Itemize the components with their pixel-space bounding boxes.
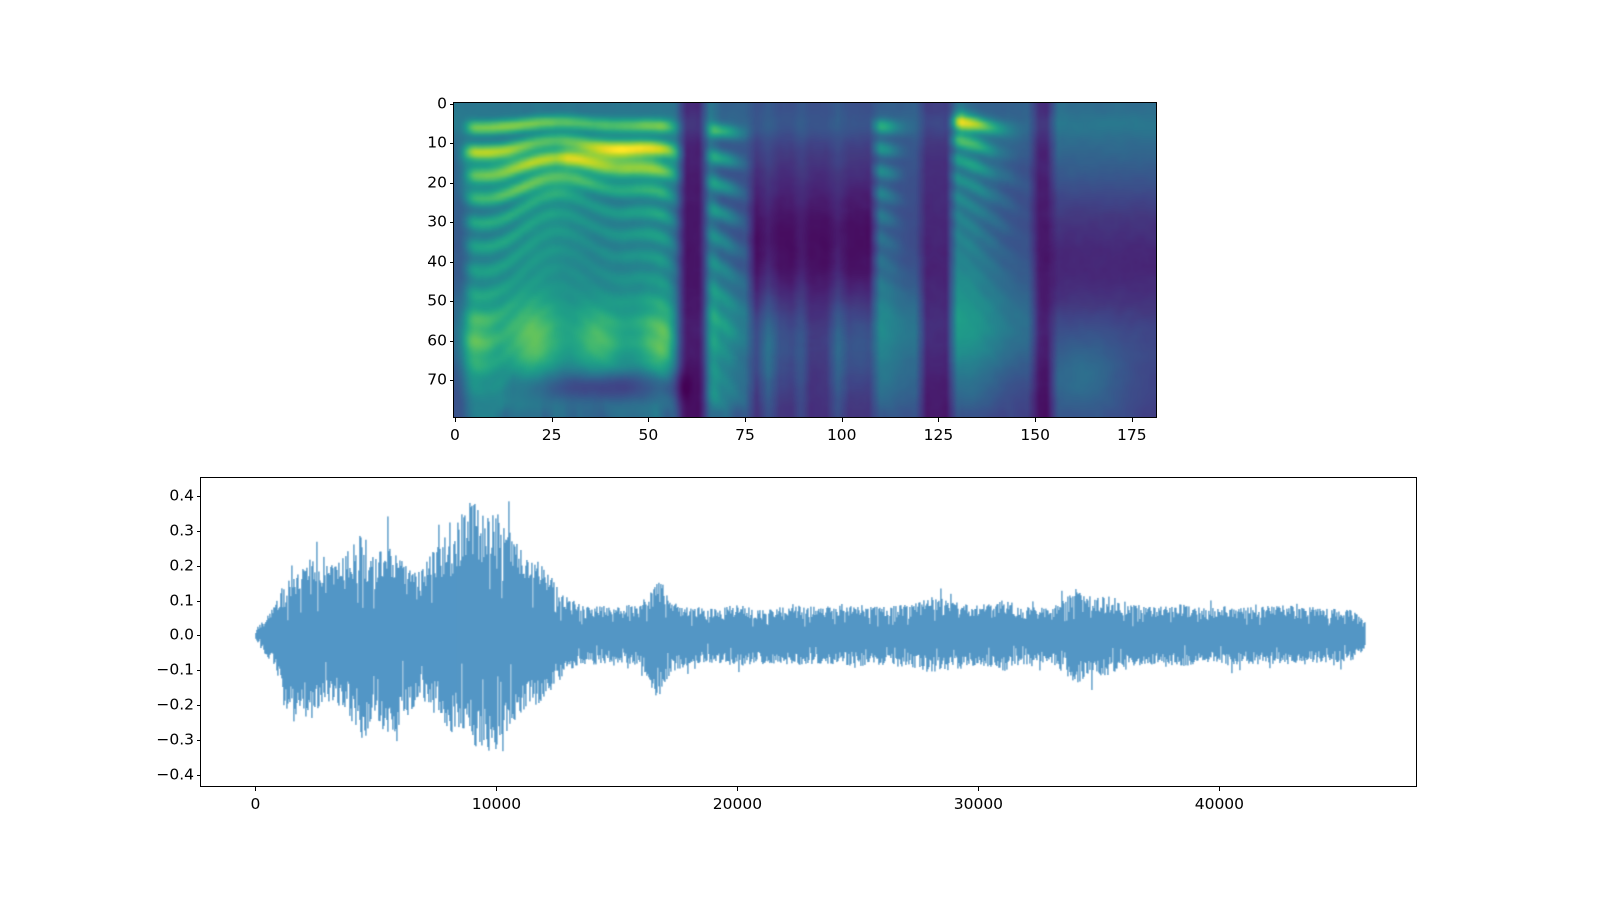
axis-tick [197,496,201,497]
axis-tick-label: 20 [427,175,447,191]
axis-tick-label: 125 [924,428,954,444]
axis-tick [552,418,553,422]
axis-tick-label: 40000 [1195,797,1244,813]
axis-tick [450,104,454,105]
axis-tick [450,301,454,302]
axis-tick [1035,418,1036,422]
axis-tick [455,418,456,422]
mel-spectrogram-panel: 010203040506070 0255075100125150175 [453,102,1157,418]
axis-tick [197,705,201,706]
axis-tick [197,775,201,776]
axis-tick [450,262,454,263]
axis-tick-label: 20000 [713,797,762,813]
axis-tick-label: 0 [250,797,260,813]
axis-tick-label: 0 [437,96,447,112]
axis-tick [842,418,843,422]
waveform-panel: −0.4−0.3−0.2−0.10.00.10.20.30.4 01000020… [200,477,1417,787]
axis-tick-label: 0.3 [169,523,194,539]
axis-tick [197,531,201,532]
axis-tick-label: 50 [638,428,658,444]
axis-tick [197,601,201,602]
axis-tick-label: 25 [542,428,562,444]
axis-tick [255,787,256,791]
axis-tick [938,418,939,422]
axis-tick [197,566,201,567]
axis-tick [450,183,454,184]
axis-tick-label: 40 [427,254,447,270]
axis-tick-label: −0.4 [156,767,194,783]
axis-tick-label: 0.0 [169,628,194,644]
axis-tick-label: 75 [735,428,755,444]
axis-tick [197,670,201,671]
axis-tick [1132,418,1133,422]
axis-tick [496,787,497,791]
axis-tick-label: 10000 [472,797,521,813]
axis-tick-label: 0 [450,428,460,444]
axis-tick-label: −0.1 [156,663,194,679]
axis-tick [450,143,454,144]
axis-tick [1219,787,1220,791]
axis-tick [745,418,746,422]
axis-tick-label: 60 [427,333,447,349]
axis-tick [978,787,979,791]
axis-tick [450,341,454,342]
axis-tick [197,740,201,741]
axis-tick [648,418,649,422]
axis-tick [450,222,454,223]
mel-spectrogram-image [453,102,1157,418]
axis-tick-label: −0.2 [156,697,194,713]
axis-tick-label: 100 [827,428,857,444]
axis-tick [737,787,738,791]
axis-tick-label: 150 [1020,428,1050,444]
axis-tick-label: 70 [427,373,447,389]
axis-tick-label: 50 [427,294,447,310]
axis-tick-label: 30000 [954,797,1003,813]
axis-tick-label: 175 [1117,428,1147,444]
axis-tick [197,635,201,636]
axis-tick-label: 10 [427,136,447,152]
axis-tick-label: 0.2 [169,558,194,574]
axis-tick-label: 0.4 [169,488,194,504]
waveform-plot [200,477,1417,787]
axis-tick-label: 0.1 [169,593,194,609]
axis-tick-label: 30 [427,215,447,231]
axis-tick-label: −0.3 [156,732,194,748]
axis-tick [450,380,454,381]
